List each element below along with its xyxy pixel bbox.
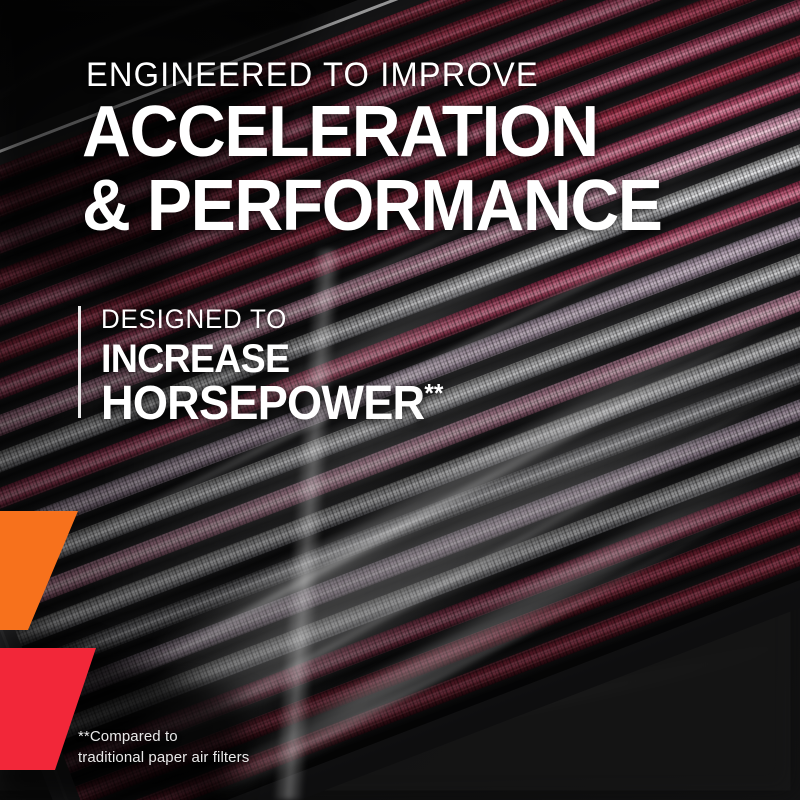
footnote-line-2: traditional paper air filters bbox=[78, 748, 249, 769]
subheadline-kicker: DESIGNED TO bbox=[101, 306, 451, 333]
subheadline-line-2-text: HORSEPOWER bbox=[101, 377, 424, 430]
subheadline-block: DESIGNED TO INCREASE HORSEPOWER** bbox=[78, 306, 465, 418]
footnote-block: **Compared to traditional paper air filt… bbox=[78, 727, 249, 768]
footnote-marker: ** bbox=[424, 378, 443, 408]
subheadline-line-2: HORSEPOWER** bbox=[101, 380, 443, 428]
subheadline-line-1: INCREASE bbox=[101, 339, 443, 379]
promo-banner: ENGINEERED TO IMPROVE ACCELERATION & PER… bbox=[0, 0, 800, 800]
headline-line-2: & PERFORMANCE bbox=[82, 172, 662, 241]
headline-line-1: ACCELERATION bbox=[82, 98, 598, 167]
marketing-copy: ENGINEERED TO IMPROVE ACCELERATION & PER… bbox=[0, 0, 800, 800]
footnote-line-1: **Compared to bbox=[78, 727, 249, 748]
headline-kicker: ENGINEERED TO IMPROVE bbox=[86, 58, 539, 92]
